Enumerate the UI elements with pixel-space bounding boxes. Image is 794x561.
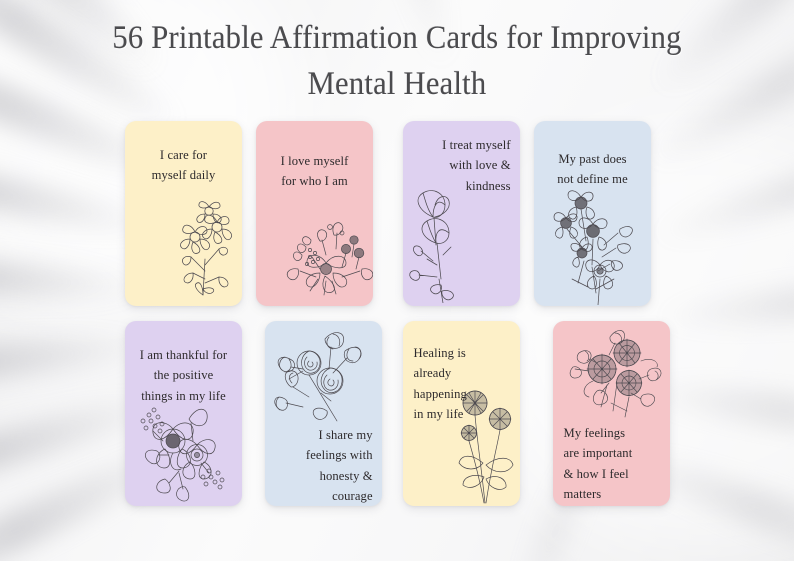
anemone-spray-flower-icon: [548, 183, 640, 305]
affirmation-text: I love myself for who I am: [265, 151, 363, 192]
peony-cluster-flower-icon: [135, 393, 231, 505]
poppy-flower-icon: [403, 185, 473, 303]
affirmation-text: I care for myself daily: [134, 145, 232, 186]
affirmation-card[interactable]: I am thankful for the positive things in…: [125, 321, 242, 506]
affirmation-card[interactable]: I love myself for who I am: [256, 121, 373, 306]
affirmation-card[interactable]: Healing is already happening in my life: [403, 321, 520, 506]
affirmation-card[interactable]: I treat myself with love & kindness: [403, 121, 520, 306]
mixed-bouquet-flower-icon: [280, 197, 373, 302]
affirmation-text: I share my feelings with honesty & coura…: [277, 425, 373, 506]
daisy-spray-flower-icon: [173, 187, 242, 302]
affirmation-text: My feelings are important & how I feel m…: [564, 423, 661, 505]
affirmation-card[interactable]: My feelings are important & how I feel m…: [553, 321, 670, 506]
affirmation-text: Healing is already happening in my life: [414, 343, 511, 425]
affirmation-card[interactable]: I share my feelings with honesty & coura…: [265, 321, 382, 506]
affirmation-text: My past does not define me: [543, 149, 641, 190]
affirmation-card[interactable]: I care for myself daily: [125, 121, 242, 306]
affirmation-card-grid: I care for myself daily: [125, 121, 670, 506]
affirmation-text: I treat myself with love & kindness: [415, 135, 511, 196]
dahlia-cluster-flower-icon: [567, 325, 667, 435]
page-title: 56 Printable Affirmation Cards for Impro…: [28, 16, 766, 107]
affirmation-text: I am thankful for the positive things in…: [134, 345, 232, 406]
affirmation-card[interactable]: My past does not define me: [534, 121, 651, 306]
